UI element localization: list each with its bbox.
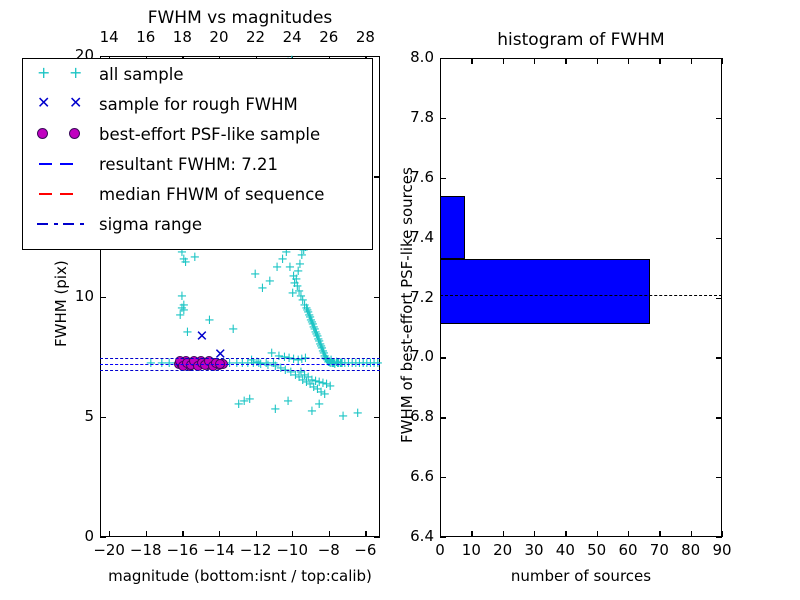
- right-panel-title: histogram of FWHM: [440, 30, 722, 50]
- x-axis-tick-label: −8: [309, 541, 349, 559]
- hist-y-axis-tick-right: [716, 118, 722, 119]
- legend-glyph: [60, 193, 73, 195]
- legend-glyph: +: [37, 65, 50, 81]
- x-axis-tick-label: −10: [272, 541, 312, 559]
- scatter-point-all-sample: +: [204, 314, 215, 327]
- legend-glyph: [80, 223, 84, 225]
- hist-y-axis-tick-right: [716, 537, 722, 538]
- scatter-point-rough-sample: ✕: [196, 329, 209, 344]
- histogram-median-line: [440, 295, 722, 296]
- legend-label: median FHWM of sequence: [99, 185, 324, 204]
- hist-y-axis-tick-right: [716, 477, 722, 478]
- x-axis-tick-label: −18: [126, 541, 166, 559]
- sigma-range-lower-line: [100, 370, 380, 371]
- hist-x-axis-tick-top: [722, 58, 723, 64]
- legend-item-3[interactable]: resultant FWHM: 7.21: [23, 149, 372, 179]
- x-axis-tick: [292, 531, 293, 537]
- legend-glyph: ✕: [69, 95, 82, 111]
- y-axis-tick-label: 0: [54, 527, 94, 545]
- y-axis-tick-right: [374, 417, 380, 418]
- y-axis-tick: [100, 297, 106, 298]
- top-axis-tick-label: 14: [93, 28, 125, 46]
- scatter-point-all-sample: +: [250, 268, 261, 281]
- legend-item-0[interactable]: ++all sample: [23, 59, 372, 89]
- hist-y-axis-tick-label: 6.6: [392, 467, 434, 485]
- scatter-point-all-sample: +: [178, 253, 189, 266]
- x-axis-tick: [256, 531, 257, 537]
- x-axis-tick-label: −14: [199, 541, 239, 559]
- hist-x-axis-tick-top: [471, 58, 472, 64]
- legend-glyph: [63, 223, 74, 225]
- right-panel-xlabel: number of sources: [440, 567, 722, 585]
- legend-glyph: [54, 223, 58, 225]
- legend-glyph: ✕: [37, 95, 50, 111]
- hist-x-axis-tick-top: [597, 58, 598, 64]
- legend-glyph: +: [69, 65, 82, 81]
- legend-glyph: [37, 223, 48, 225]
- hist-y-axis-tick-right: [716, 298, 722, 299]
- legend-glyph: [37, 128, 48, 139]
- hist-y-axis-tick: [440, 178, 446, 179]
- y-axis-tick-right: [374, 56, 380, 57]
- legend-item-2[interactable]: best-effort PSF-like sample: [23, 119, 372, 149]
- x-axis-tick-label: −12: [236, 541, 276, 559]
- legend-glyph: [69, 128, 80, 139]
- scatter-point-all-sample: +: [314, 398, 325, 411]
- x-axis-tick: [329, 531, 330, 537]
- hist-y-axis-tick: [440, 58, 446, 59]
- x-axis-tick-label: −20: [89, 541, 129, 559]
- scatter-point-rough-sample: ✕: [214, 347, 227, 362]
- histogram-bar: [440, 196, 465, 259]
- top-axis-tick-label: 18: [166, 28, 198, 46]
- hist-x-axis-tick: [722, 531, 723, 537]
- x-axis-tick: [146, 531, 147, 537]
- legend-symbol-x-marker: ✕✕: [23, 89, 99, 119]
- hist-x-axis-tick: [503, 531, 504, 537]
- legend-glyph: [39, 163, 52, 165]
- right-panel-ylabel: FWHM of best-effort PSF-like sources: [398, 167, 416, 443]
- legend-item-5[interactable]: sigma range: [23, 209, 372, 239]
- left-panel-ylabel: FWHM (pix): [52, 260, 70, 347]
- scatter-point-all-sample: +: [270, 403, 281, 416]
- sigma-range-upper-line: [100, 358, 380, 359]
- hist-y-axis-tick-right: [716, 58, 722, 59]
- scatter-point-all-sample: +: [228, 323, 239, 336]
- x-axis-tick-label: −6: [345, 541, 385, 559]
- hist-y-axis-tick: [440, 357, 446, 358]
- top-axis-tick-label: 24: [276, 28, 308, 46]
- hist-x-axis-tick-top: [534, 58, 535, 64]
- hist-y-axis-tick: [440, 118, 446, 119]
- hist-y-axis-tick-label: 8.0: [392, 48, 434, 66]
- scatter-point-all-sample: +: [338, 410, 349, 423]
- x-axis-tick: [365, 531, 366, 537]
- scatter-point-all-sample: +: [244, 393, 255, 406]
- scatter-point-all-sample: +: [175, 309, 186, 322]
- hist-y-axis-tick-label: 7.8: [392, 108, 434, 126]
- legend-symbol-plus-marker: ++: [23, 59, 99, 89]
- y-axis-tick: [100, 537, 106, 538]
- hist-x-axis-tick-top: [565, 58, 566, 64]
- top-axis-tick-label: 28: [349, 28, 381, 46]
- top-axis-tick-label: 22: [240, 28, 272, 46]
- scatter-point-all-sample: +: [182, 326, 193, 339]
- legend-label: sample for rough FWHM: [99, 95, 298, 114]
- legend-label: resultant FWHM: 7.21: [99, 155, 278, 174]
- hist-y-axis-tick-right: [716, 238, 722, 239]
- hist-x-axis-tick-top: [691, 58, 692, 64]
- legend-symbol-circle-marker: [23, 119, 99, 149]
- x-axis-tick-label: −16: [162, 541, 202, 559]
- hist-x-axis-tick-top: [659, 58, 660, 64]
- x-axis-tick: [182, 531, 183, 537]
- hist-y-axis-tick: [440, 417, 446, 418]
- top-axis-tick-label: 16: [130, 28, 162, 46]
- y-axis-tick: [100, 417, 106, 418]
- hist-x-axis-tick: [565, 531, 566, 537]
- y-axis-tick-right: [374, 297, 380, 298]
- hist-y-axis-tick-right: [716, 178, 722, 179]
- x-axis-tick: [109, 531, 110, 537]
- legend-symbol-dashdot-line: [23, 209, 99, 239]
- hist-x-axis-tick: [628, 531, 629, 537]
- legend-label: best-effort PSF-like sample: [99, 125, 320, 144]
- hist-x-axis-tick: [659, 531, 660, 537]
- hist-y-axis-tick: [440, 477, 446, 478]
- histogram-bar: [440, 259, 650, 325]
- y-axis-tick-right: [374, 176, 380, 177]
- hist-x-axis-tick: [597, 531, 598, 537]
- top-axis-tick-label: 26: [313, 28, 345, 46]
- resultant-fwhm-line: [100, 364, 380, 365]
- hist-x-axis-tick-label: 90: [704, 541, 740, 559]
- legend-glyph: [60, 163, 73, 165]
- scatter-point-all-sample: +: [189, 251, 200, 264]
- legend-item-4[interactable]: median FHWM of sequence: [23, 179, 372, 209]
- legend-symbol-dashed-line: [23, 149, 99, 179]
- hist-y-axis-tick-label: 6.4: [392, 527, 434, 545]
- hist-y-axis-tick-right: [716, 357, 722, 358]
- hist-x-axis-tick: [534, 531, 535, 537]
- top-axis-tick-label: 20: [203, 28, 235, 46]
- scatter-point-all-sample: +: [233, 398, 244, 411]
- left-panel-xlabel: magnitude (bottom:isnt / top:calib): [100, 567, 380, 585]
- scatter-point-all-sample: +: [264, 275, 275, 288]
- hist-x-axis-tick-top: [628, 58, 629, 64]
- legend-label: all sample: [99, 65, 184, 84]
- hist-x-axis-tick: [471, 531, 472, 537]
- scatter-point-all-sample: +: [352, 407, 363, 420]
- scatter-point-all-sample: +: [287, 287, 298, 300]
- legend-box: ++all sample✕✕sample for rough FWHMbest-…: [22, 58, 373, 250]
- legend-symbol-dashed-line: [23, 179, 99, 209]
- y-axis-tick-label: 5: [54, 407, 94, 425]
- hist-y-axis-tick: [440, 537, 446, 538]
- figure-canvas: FWHM vs magnitudes1416182022242628−20−18…: [0, 0, 800, 600]
- hist-x-axis-tick: [691, 531, 692, 537]
- scatter-point-all-sample: +: [283, 395, 294, 408]
- legend-glyph: [39, 193, 52, 195]
- hist-x-axis-tick-top: [503, 58, 504, 64]
- scatter-point-all-sample: +: [325, 380, 336, 393]
- y-axis-tick-right: [374, 537, 380, 538]
- legend-item-1[interactable]: ✕✕sample for rough FWHM: [23, 89, 372, 119]
- left-panel-title: FWHM vs magnitudes: [100, 8, 380, 28]
- hist-y-axis-tick-right: [716, 417, 722, 418]
- legend-label: sigma range: [99, 215, 202, 234]
- x-axis-tick: [219, 531, 220, 537]
